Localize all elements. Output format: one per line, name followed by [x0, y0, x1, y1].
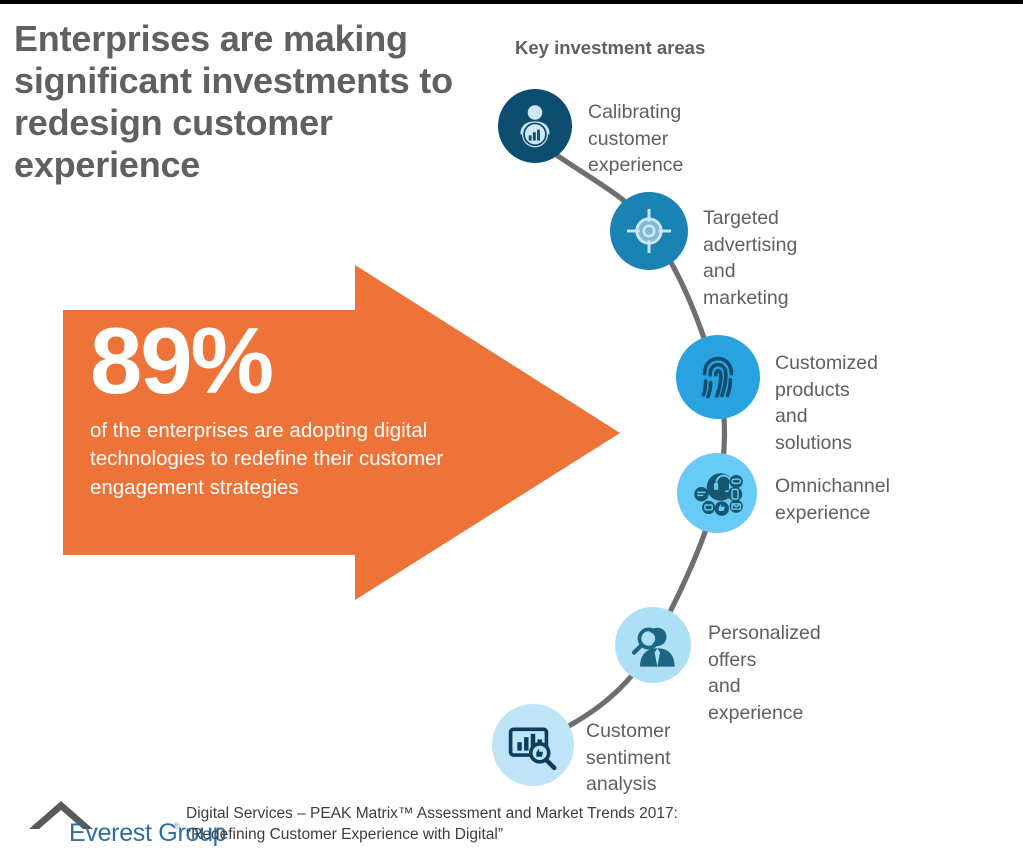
- statistic-text-block: 89% of the enterprises are adopting digi…: [90, 315, 530, 502]
- node-label-line: and experience: [708, 673, 821, 726]
- source-citation: Digital Services – PEAK Matrix™ Assessme…: [186, 803, 886, 846]
- node-label-line: Omnichannel: [775, 473, 890, 500]
- node-label-line: Calibrating customer: [588, 99, 683, 152]
- journey-heading: Key investment areas: [515, 37, 705, 59]
- node-label-line: experience: [775, 500, 890, 527]
- crosshair-target-icon: [620, 202, 678, 260]
- chart-magnifier-icon: [505, 717, 561, 773]
- everest-group-logo: Everest Group ®: [27, 799, 175, 851]
- node-label-line: Personalized offers: [708, 620, 821, 673]
- node-label-line: and solutions: [775, 403, 878, 456]
- citation-line: “Redefining Customer Experience with Dig…: [186, 824, 886, 845]
- top-border-rule: [0, 0, 1023, 4]
- node-label-line: Customer sentiment: [586, 718, 671, 771]
- person-magnifier-icon: [626, 618, 680, 672]
- node-label-omnichannel-experience: Omnichannel experience: [775, 473, 890, 526]
- node-icon-personalized-offers-and-experience[interactable]: [615, 607, 691, 683]
- node-label-targeted-advertising-and-marketing: Targeted advertising and marketing: [703, 205, 797, 311]
- statistic-caption: of the enterprises are adopting digital …: [90, 417, 505, 502]
- node-label-line: Targeted advertising: [703, 205, 797, 258]
- node-label-line: and marketing: [703, 258, 797, 311]
- node-label-line: experience: [588, 152, 683, 179]
- node-icon-customized-products-and-solutions[interactable]: [676, 335, 760, 419]
- statistic-arrow: 89% of the enterprises are adopting digi…: [0, 255, 640, 615]
- node-icon-omnichannel-experience[interactable]: [677, 453, 757, 533]
- node-icon-calibrating-customer-experience[interactable]: [498, 89, 572, 163]
- communication-bubbles-icon: [687, 463, 747, 523]
- node-label-calibrating-customer-experience: Calibrating customer experience: [588, 99, 683, 179]
- statistic-number: 89%: [90, 315, 530, 407]
- fingerprint-icon: [690, 349, 746, 405]
- node-label-personalized-offers-and-experience: Personalized offers and experience: [708, 620, 821, 726]
- node-icon-customer-sentiment-analysis[interactable]: [492, 704, 574, 786]
- citation-line: Digital Services – PEAK Matrix™ Assessme…: [186, 803, 886, 824]
- footer: Everest Group ® Digital Services – PEAK …: [0, 791, 1023, 861]
- page-title: Enterprises are making significant inves…: [14, 18, 484, 186]
- node-icon-targeted-advertising-and-marketing[interactable]: [610, 192, 688, 270]
- registered-trademark-icon: ®: [173, 821, 180, 831]
- person-chart-icon: [509, 100, 561, 152]
- node-label-line: Customized products: [775, 350, 878, 403]
- node-label-customer-sentiment-analysis: Customer sentiment analysis: [586, 718, 671, 798]
- node-label-customized-products-and-solutions: Customized products and solutions: [775, 350, 878, 456]
